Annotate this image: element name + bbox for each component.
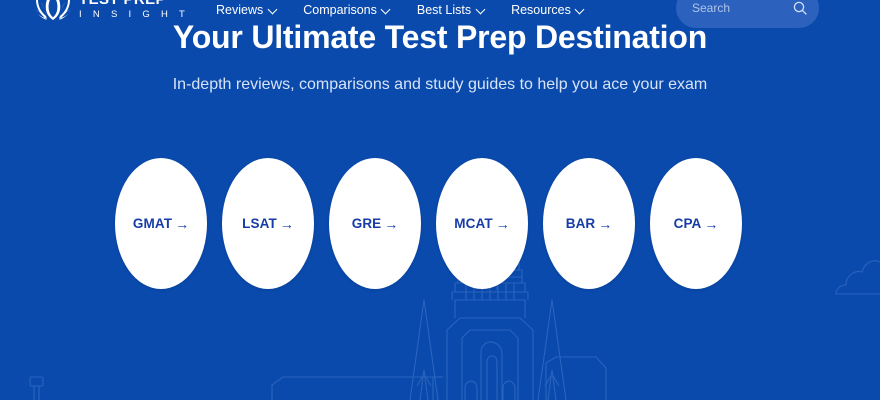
nav-item-comparisons[interactable]: Comparisons <box>303 3 391 17</box>
page-subtitle: In-depth reviews, comparisons and study … <box>0 76 880 94</box>
chevron-down-icon <box>576 5 585 14</box>
lamp-post-illustration <box>30 377 43 400</box>
search-input[interactable] <box>692 1 787 15</box>
chevron-down-icon <box>382 5 391 14</box>
search-icon[interactable] <box>793 1 807 15</box>
exam-oval-gmat[interactable]: GMAT → <box>115 158 207 289</box>
nav-item-label: Reviews <box>216 3 263 17</box>
arrow-right-icon: → <box>280 217 294 231</box>
search-box[interactable] <box>676 0 819 28</box>
hero-section: TEST PREP I N S I G H T Reviews Comparis… <box>0 0 880 400</box>
laurel-wreath-icon <box>32 0 74 24</box>
nav-item-label: Best Lists <box>417 3 471 17</box>
exam-oval-mcat[interactable]: MCAT → <box>436 158 528 289</box>
logo-sub-text: I N S I G H T <box>79 10 189 20</box>
exam-label: CPA <box>674 216 702 231</box>
exam-label: BAR <box>566 216 596 231</box>
cloud-illustration <box>836 261 880 294</box>
exam-label: MCAT <box>454 216 492 231</box>
chevron-down-icon <box>268 5 277 14</box>
nav-item-reviews[interactable]: Reviews <box>216 3 277 17</box>
site-logo[interactable]: TEST PREP I N S I G H T <box>32 0 189 26</box>
exam-links-row: GMAT → LSAT → GRE → MCAT → BAR → CPA → <box>115 158 742 289</box>
exam-label: GMAT <box>133 216 172 231</box>
arrow-right-icon: → <box>175 217 189 231</box>
exam-oval-cpa[interactable]: CPA → <box>650 158 742 289</box>
nav-item-label: Resources <box>511 3 571 17</box>
exam-label: LSAT <box>242 216 277 231</box>
nav-item-resources[interactable]: Resources <box>511 3 585 17</box>
arrow-right-icon: → <box>704 217 718 231</box>
exam-label: GRE <box>352 216 382 231</box>
nav-item-best-lists[interactable]: Best Lists <box>417 3 485 17</box>
top-navigation-bar: TEST PREP I N S I G H T Reviews Comparis… <box>0 0 880 26</box>
arrow-right-icon: → <box>384 217 398 231</box>
chevron-down-icon <box>476 5 485 14</box>
exam-oval-gre[interactable]: GRE → <box>329 158 421 289</box>
exam-oval-lsat[interactable]: LSAT → <box>222 158 314 289</box>
arrow-right-icon: → <box>598 217 612 231</box>
main-nav: Reviews Comparisons Best Lists Resources <box>216 0 585 20</box>
arrow-right-icon: → <box>496 217 510 231</box>
nav-item-label: Comparisons <box>303 3 377 17</box>
logo-main-text: TEST PREP <box>79 0 189 7</box>
exam-oval-bar[interactable]: BAR → <box>543 158 635 289</box>
